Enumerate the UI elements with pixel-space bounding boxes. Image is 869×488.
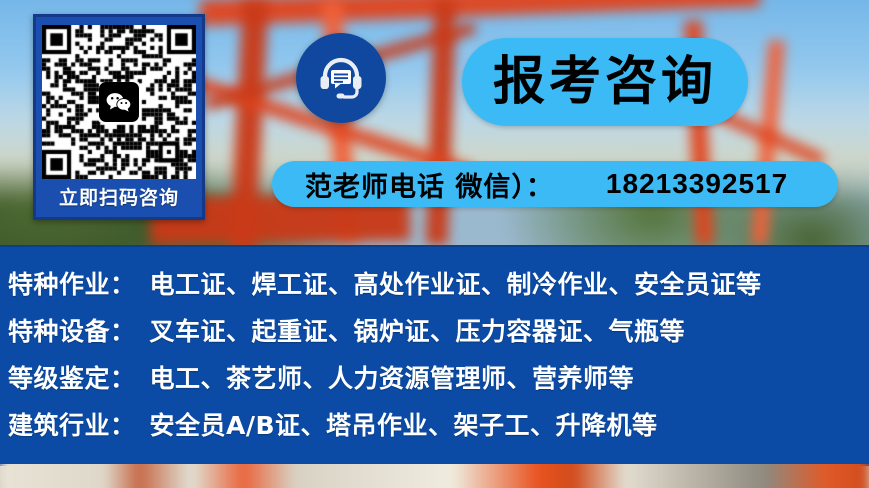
info-row-value: 电工、茶艺师、人力资源管理师、营养师等 (150, 359, 635, 395)
info-row-value: 电工证、焊工证、高处作业证、制冷作业、安全员证等 (150, 265, 762, 301)
info-row: 等级鉴定： 电工、茶艺师、人力资源管理师、营养师等 (0, 353, 869, 400)
info-row-label: 特种作业： (8, 265, 136, 301)
certificate-list-panel: 特种作业： 电工证、焊工证、高处作业证、制冷作业、安全员证等 特种设备： 叉车证… (0, 245, 869, 466)
consultation-title-text: 报考咨询 (493, 56, 717, 108)
consultation-title-pill: 报考咨询 (462, 38, 748, 126)
info-row-label: 建筑行业： (8, 406, 136, 442)
contact-phone-pill[interactable]: 范老师电话 微信）： 18213392517 (272, 161, 838, 207)
info-row-label: 等级鉴定： (8, 359, 136, 395)
bottom-photo (0, 464, 869, 488)
qr-code-card[interactable]: 立即扫码咨询 (33, 14, 205, 220)
info-row-label: 特种设备： (8, 312, 136, 348)
contact-name-label: 范老师电话 微信）： (305, 165, 554, 204)
info-row-value: 安全员A/B证、塔吊作业、架子工、升降机等 (150, 406, 658, 442)
bottom-photo-strip (0, 464, 869, 488)
info-row: 特种作业： 电工证、焊工证、高处作业证、制冷作业、安全员证等 (0, 259, 869, 306)
qr-code-image[interactable] (42, 25, 196, 179)
qr-card-label: 立即扫码咨询 (59, 179, 179, 217)
headset-support-icon (296, 33, 386, 123)
info-row: 特种设备： 叉车证、起重证、锅炉证、压力容器证、气瓶等 (0, 306, 869, 353)
info-row-value: 叉车证、起重证、锅炉证、压力容器证、气瓶等 (150, 312, 686, 348)
info-row: 建筑行业： 安全员A/B证、塔吊作业、架子工、升降机等 (0, 400, 869, 447)
advertisement-poster: 立即扫码咨询 报考咨询 范老师电话 微信）： 18213392517 特种作业：… (0, 0, 869, 488)
wechat-icon (99, 82, 139, 122)
contact-phone-number[interactable]: 18213392517 (606, 168, 788, 200)
